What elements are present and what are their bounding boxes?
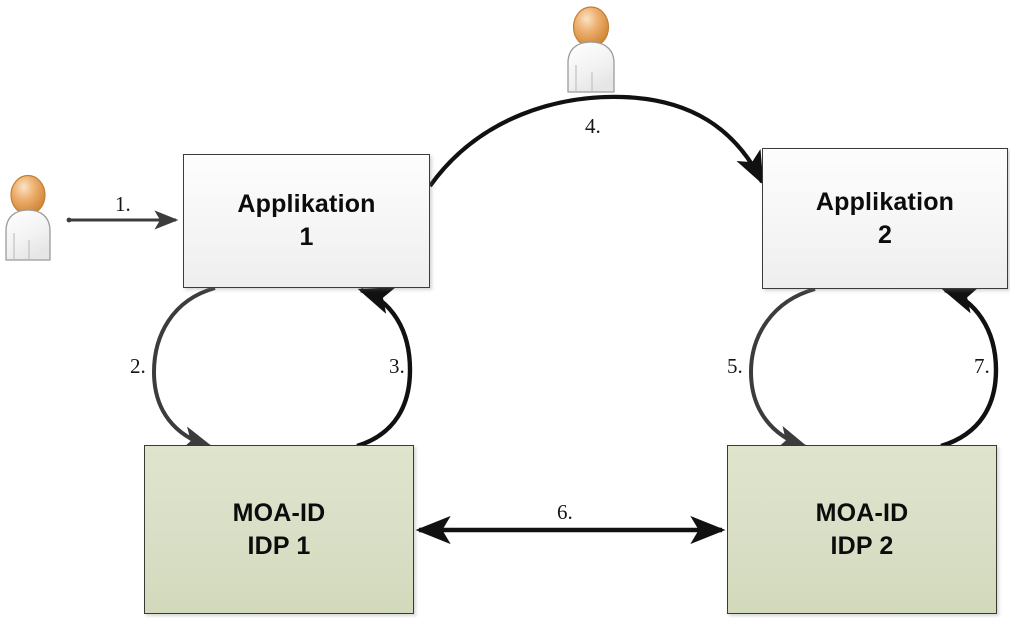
application-2-box[interactable]: Applikation 2 [762,148,1008,289]
step-label-6: 6. [557,502,573,523]
arrow-step-1 [67,218,176,223]
step-label-2: 2. [130,356,146,377]
user-actor-left [6,176,50,261]
user-actor-top [568,7,614,92]
step-label-7: 7. [974,356,990,377]
step-label-5: 5. [727,356,743,377]
application-1-box[interactable]: Applikation 1 [183,154,430,288]
moa-id-idp-1-label-line2: IDP 1 [247,530,310,563]
moa-id-idp-2-label-line2: IDP 2 [830,530,893,563]
application-2-label-line1: Applikation [816,186,954,219]
step-label-4: 4. [585,116,601,137]
application-1-label-line2: 1 [299,221,313,254]
moa-id-idp-1-label-line1: MOA-ID [233,497,326,530]
arrow-step-4 [430,97,762,186]
application-1-label-line1: Applikation [237,188,375,221]
moa-id-idp-2-box[interactable]: MOA-ID IDP 2 [727,445,997,614]
application-2-label-line2: 2 [878,219,892,252]
moa-id-idp-2-label-line1: MOA-ID [816,497,909,530]
step-label-3: 3. [389,356,405,377]
diagram-canvas: Applikation 1 Applikation 2 MOA-ID IDP 1… [0,0,1010,618]
moa-id-idp-1-box[interactable]: MOA-ID IDP 1 [144,445,414,614]
step-label-1: 1. [115,194,131,215]
arrow-step-5 [751,289,815,447]
arrow-step-2 [154,288,215,447]
